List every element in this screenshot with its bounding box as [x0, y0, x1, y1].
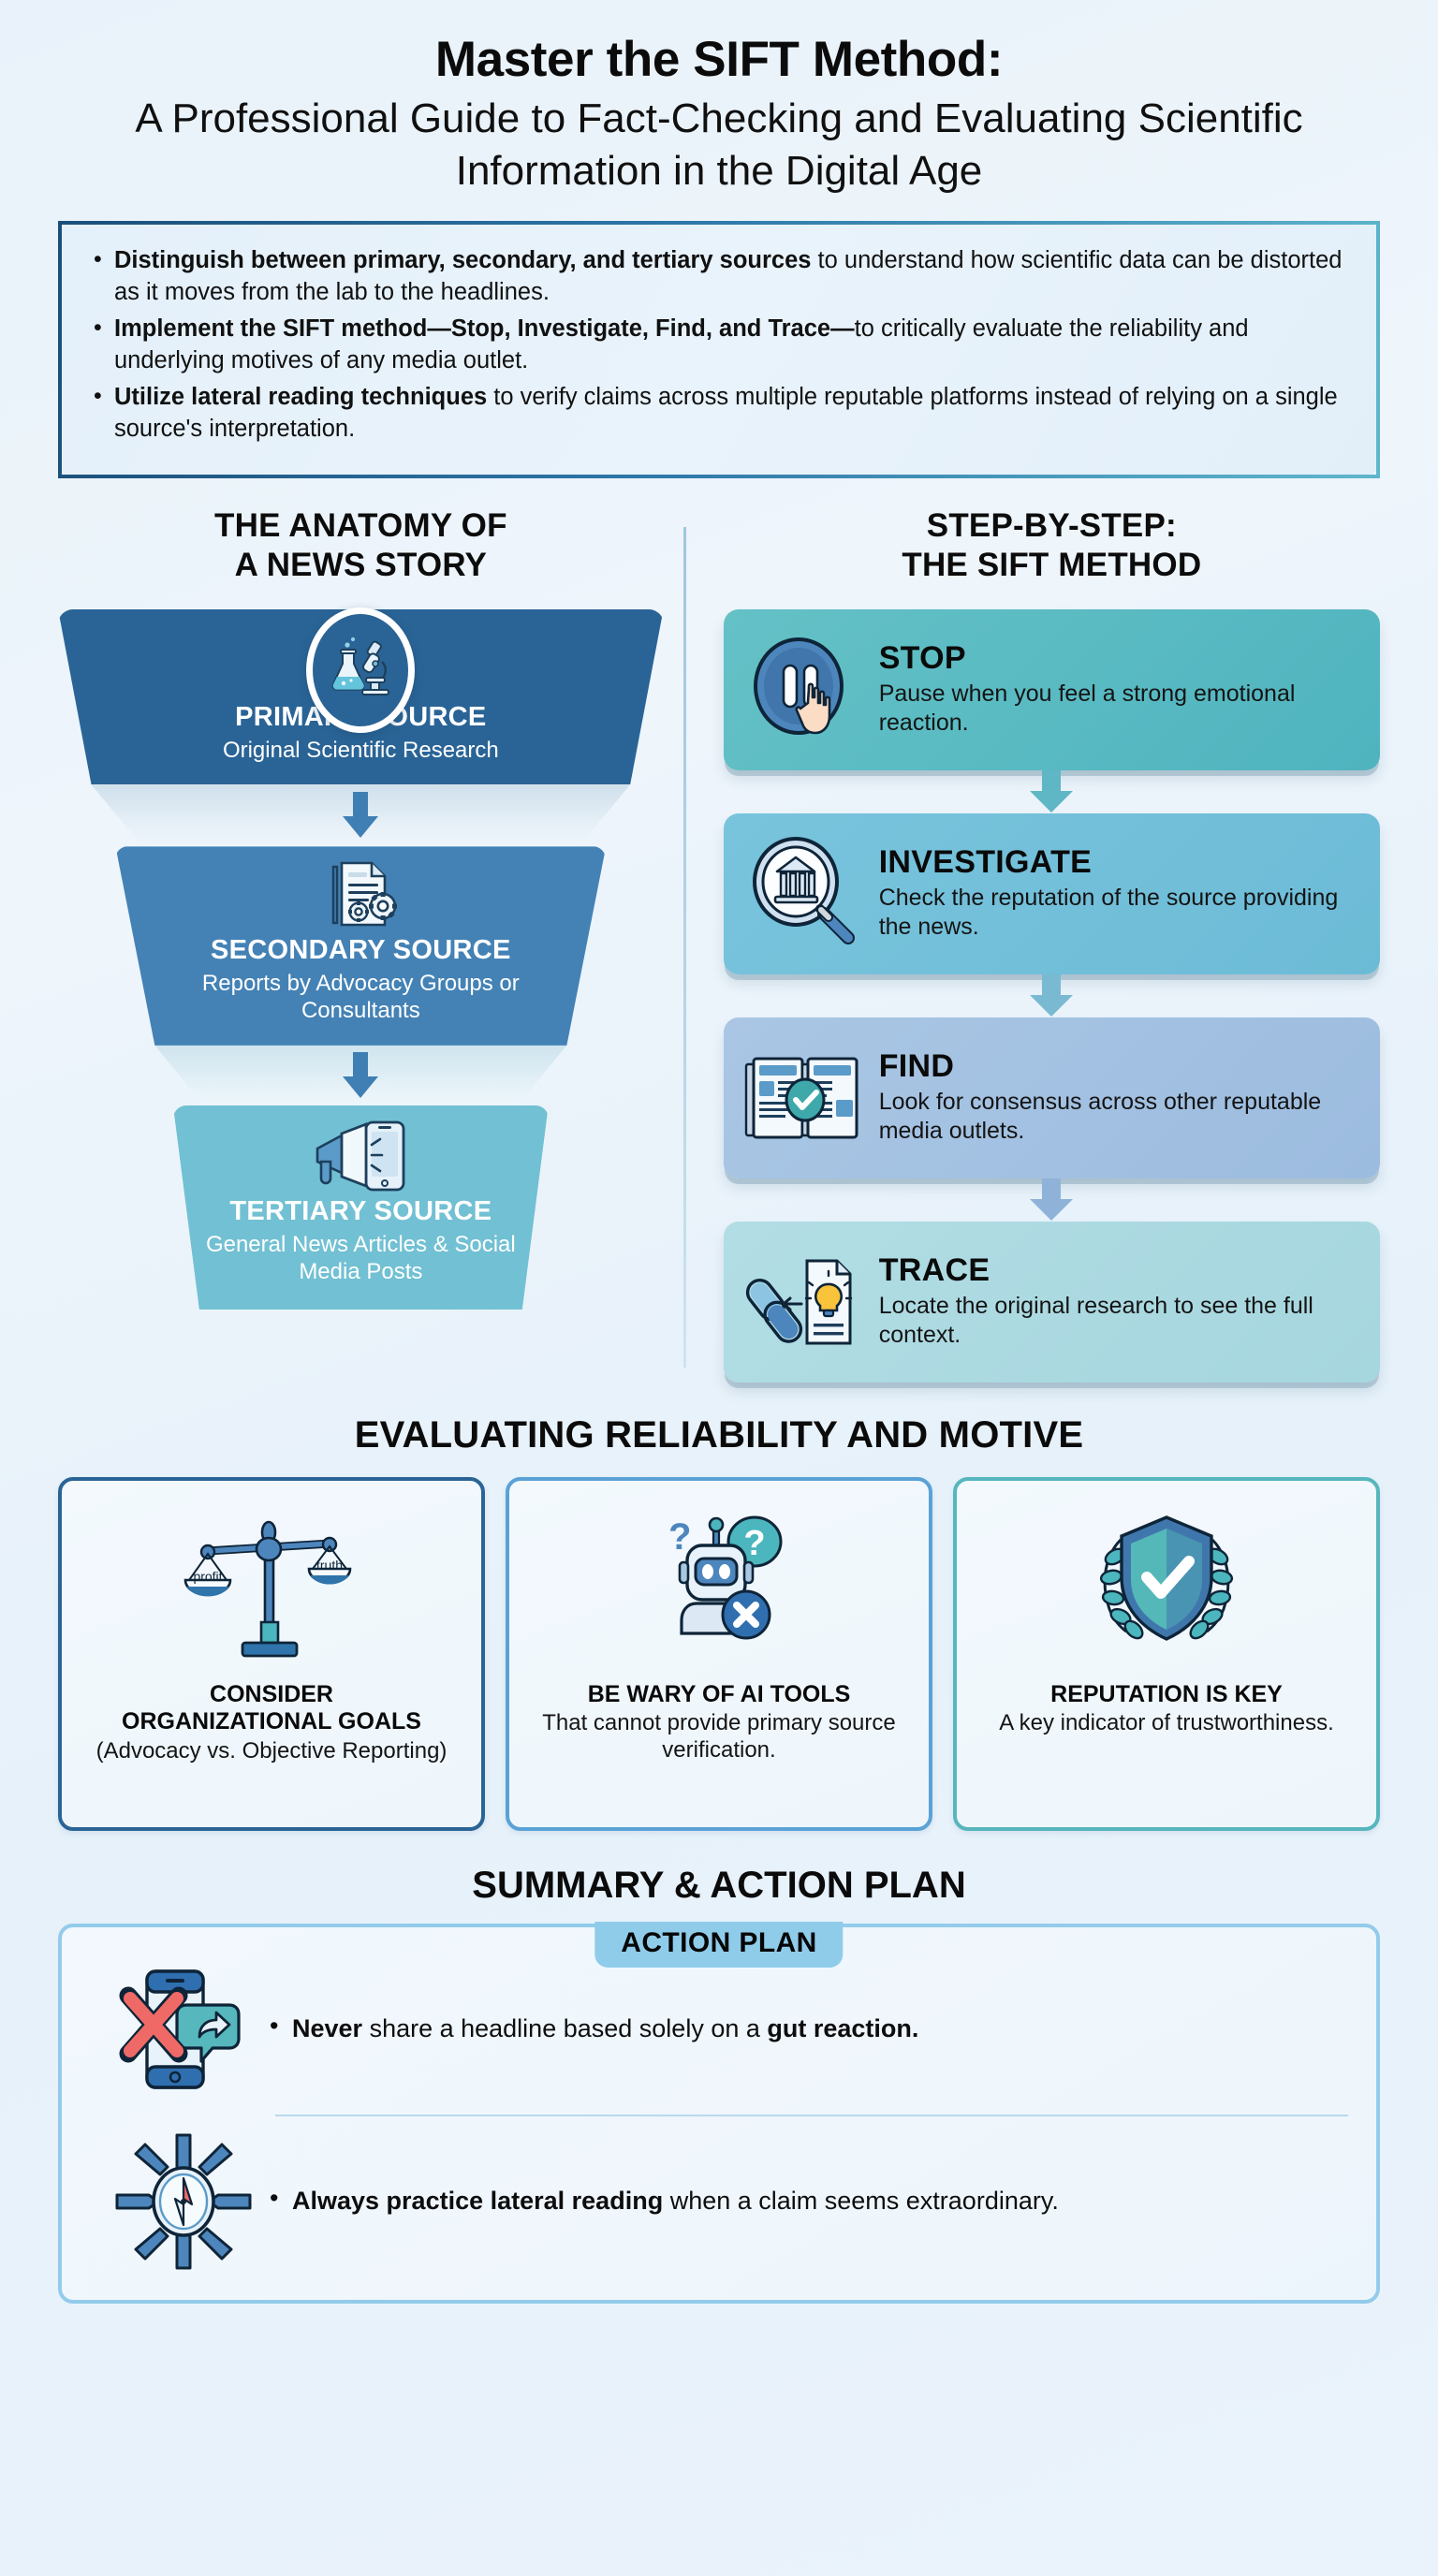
evaluate-card-sub: That cannot provide primary source verif… — [524, 1710, 914, 1764]
funnel-stage-sub: General News Articles & Social Media Pos… — [198, 1232, 524, 1286]
sift-step-text: FIND Look for consensus across other rep… — [870, 1050, 1359, 1145]
down-arrow-icon — [1025, 974, 1078, 1017]
action-mid-1: share a headline based solely on a — [362, 2014, 767, 2042]
source-funnel: PRIMARY SOURCE Original Scientific Resea… — [58, 609, 664, 1310]
newspapers-check-icon — [739, 1046, 870, 1150]
funnel-stage-sub: Reports by Advocacy Groups or Consultant… — [139, 971, 581, 1025]
sift-step-title: FIND — [879, 1050, 1359, 1084]
sift-step-title: TRACE — [879, 1254, 1359, 1288]
compass-arrows-icon — [90, 2131, 277, 2272]
evaluate-card-title: CONSIDER ORGANIZATIONAL GOALS — [122, 1681, 421, 1736]
sift-step-text: TRACE Locate the original research to se… — [870, 1254, 1359, 1349]
evaluate-card-ai-tools[interactable]: ? ? BE WARY OF A — [506, 1477, 932, 1831]
sift-heading: STEP-BY-STEP: THE SIFT METHOD — [724, 506, 1380, 585]
evaluate-heading: EVALUATING RELIABILITY AND MOTIVE — [58, 1414, 1380, 1456]
sift-step-find[interactable]: FIND Look for consensus across other rep… — [724, 1017, 1380, 1178]
action-row-text: Never share a headline based solely on a… — [277, 2012, 918, 2045]
funnel-neck-1 — [58, 784, 664, 846]
evaluate-cards: profit truth CONSIDER ORGANIZATIONAL GOA… — [58, 1477, 1380, 1831]
robot-question-icon: ? ? — [635, 1501, 803, 1676]
document-gears-icon — [317, 859, 404, 937]
evaluate-card-title-line1: REPUTATION IS KEY — [1050, 1681, 1283, 1709]
anatomy-heading-line1: THE ANATOMY OF — [58, 506, 664, 546]
action-row-text: Always practice lateral reading when a c… — [277, 2185, 1059, 2217]
sift-step-desc: Check the reputation of the source provi… — [879, 884, 1359, 941]
magnifier-bank-icon — [739, 835, 870, 953]
action-plan-badge: ACTION PLAN — [594, 1922, 843, 1968]
anatomy-heading-line2: A NEWS STORY — [58, 546, 664, 585]
middle-section: THE ANATOMY OF A NEWS STORY — [58, 506, 1380, 1383]
action-row-1: Never share a headline based solely on a… — [90, 1959, 1348, 2100]
infographic-page: Master the SIFT Method: A Professional G… — [0, 0, 1438, 2576]
evaluate-card-reputation[interactable]: REPUTATION IS KEY A key indicator of tru… — [953, 1477, 1380, 1831]
funnel-stage-sub: Original Scientific Research — [82, 738, 639, 765]
sift-step-title: STOP — [879, 642, 1359, 676]
summary-heading: SUMMARY & ACTION PLAN — [58, 1865, 1380, 1907]
sift-heading-line1: STEP-BY-STEP: — [724, 506, 1380, 546]
sift-step-investigate[interactable]: INVESTIGATE Check the reputation of the … — [724, 813, 1380, 974]
sift-step-desc: Locate the original research to see the … — [879, 1292, 1359, 1349]
sift-step-text: INVESTIGATE Check the reputation of the … — [870, 846, 1359, 941]
header: Master the SIFT Method: A Professional G… — [58, 32, 1380, 197]
sift-connector-1 — [724, 770, 1380, 813]
funnel-stage-tertiary: TERTIARY SOURCE General News Articles & … — [173, 1105, 549, 1310]
action-separator — [275, 2115, 1348, 2116]
evaluate-card-sub: (Advocacy vs. Objective Reporting) — [96, 1738, 448, 1765]
chain-document-bulb-icon — [739, 1250, 870, 1354]
anatomy-heading: THE ANATOMY OF A NEWS STORY — [58, 506, 664, 585]
evaluate-card-title-line1: CONSIDER — [122, 1681, 421, 1709]
sift-connector-3 — [724, 1178, 1380, 1222]
evaluate-card-title: REPUTATION IS KEY — [1050, 1681, 1283, 1709]
sift-step-desc: Look for consensus across other reputabl… — [879, 1088, 1359, 1145]
funnel-stage-secondary: SECONDARY SOURCE Reports by Advocacy Gro… — [115, 846, 606, 1045]
sift-heading-line2: THE SIFT METHOD — [724, 546, 1380, 585]
evaluate-card-title-line2: ORGANIZATIONAL GOALS — [122, 1708, 421, 1736]
list-item: Implement the SIFT method—Stop, Investig… — [90, 314, 1344, 377]
anatomy-column: THE ANATOMY OF A NEWS STORY — [58, 506, 686, 1383]
flask-microscope-icon — [306, 607, 415, 733]
action-mid-2: when a claim seems extraordinary. — [663, 2187, 1059, 2215]
action-plan-box: ACTION PLAN Never share a headline based… — [58, 1924, 1380, 2304]
shield-check-laurel-icon — [1078, 1501, 1255, 1676]
action-bold-lead-1: Never — [292, 2014, 362, 2042]
bullet-bold-2: Implement the SIFT method—Stop, Investig… — [114, 315, 855, 342]
down-arrow-icon — [1025, 1178, 1078, 1222]
sift-connector-2 — [724, 974, 1380, 1017]
evaluate-card-organizational-goals[interactable]: profit truth CONSIDER ORGANIZATIONAL GOA… — [58, 1477, 485, 1831]
sift-step-stop[interactable]: STOP Pause when you feel a strong emotio… — [724, 609, 1380, 770]
page-title-line1: Master the SIFT Method: — [58, 32, 1380, 88]
bullet-bold-1: Distinguish between primary, secondary, … — [114, 247, 811, 273]
megaphone-phone-icon — [312, 1119, 409, 1198]
sift-step-text: STOP Pause when you feel a strong emotio… — [870, 642, 1359, 737]
phone-x-share-icon — [90, 1968, 277, 2091]
sift-step-desc: Pause when you feel a strong emotional r… — [879, 680, 1359, 737]
sift-step-trace[interactable]: TRACE Locate the original research to se… — [724, 1222, 1380, 1383]
bullet-bold-3: Utilize lateral reading techniques — [114, 384, 487, 410]
intro-bullet-list: Distinguish between primary, secondary, … — [90, 245, 1344, 445]
funnel-stage-title: SECONDARY SOURCE — [139, 936, 581, 966]
evaluate-card-title: BE WARY OF AI TOOLS — [588, 1681, 851, 1709]
sift-step-title: INVESTIGATE — [879, 846, 1359, 880]
evaluate-card-sub: A key indicator of trustworthiness. — [999, 1710, 1334, 1737]
list-item: Distinguish between primary, secondary, … — [90, 245, 1344, 309]
svg-text:?: ? — [743, 1524, 765, 1563]
pause-hand-icon — [739, 632, 870, 748]
down-arrow-icon — [338, 1052, 383, 1099]
svg-text:?: ? — [668, 1516, 691, 1558]
evaluate-card-title-line1: BE WARY OF AI TOOLS — [588, 1681, 851, 1709]
action-bold-tail-1: gut reaction. — [767, 2014, 918, 2042]
scale-right-label: truth — [316, 1558, 343, 1573]
page-title-line2: A Professional Guide to Fact-Checking an… — [58, 93, 1380, 197]
funnel-stage-title: TERTIARY SOURCE — [198, 1197, 524, 1227]
scale-left-label: profit — [193, 1569, 222, 1584]
balance-scale-icon: profit truth — [183, 1501, 360, 1676]
list-item: Utilize lateral reading techniques to ve… — [90, 382, 1344, 446]
action-bold-lead-2: Always practice lateral reading — [292, 2187, 663, 2215]
intro-bullets-box: Distinguish between primary, secondary, … — [58, 221, 1380, 477]
funnel-neck-2 — [115, 1046, 606, 1105]
down-arrow-icon — [1025, 770, 1078, 813]
action-row-2: Always practice lateral reading when a c… — [90, 2131, 1348, 2272]
sift-column: STEP-BY-STEP: THE SIFT METHOD — [686, 506, 1380, 1383]
down-arrow-icon — [338, 792, 383, 839]
